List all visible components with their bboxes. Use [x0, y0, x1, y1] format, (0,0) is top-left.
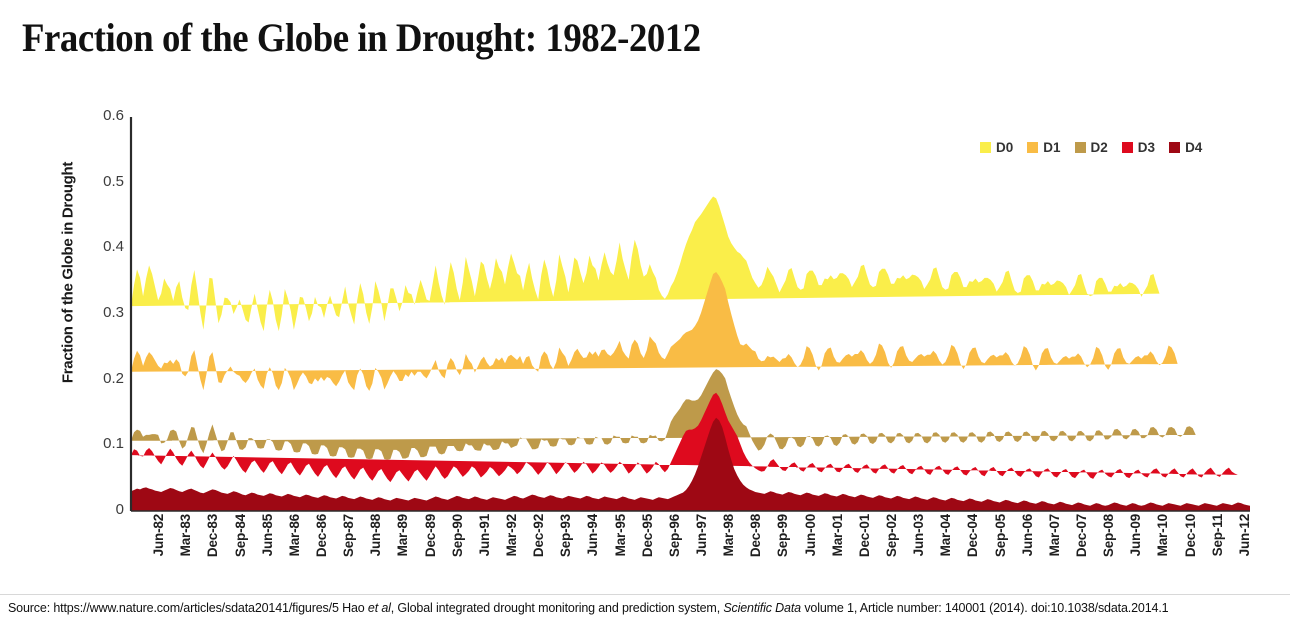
- x-axis-ticks: Jun-82Mar-83Dec-83Sep-84Jun-85Mar-86Dec-…: [0, 96, 1290, 596]
- x-tick-label: Sep-08: [1101, 514, 1116, 557]
- x-tick-label: Jun-09: [1128, 514, 1143, 556]
- x-tick-label: Sep-84: [233, 514, 248, 557]
- source-prefix: Source: https://www.nature.com/articles/…: [8, 601, 368, 615]
- legend-item-d4[interactable]: D4: [1169, 140, 1202, 155]
- x-tick-label: Sep-99: [775, 514, 790, 557]
- x-tick-label: Dec-86: [314, 514, 329, 557]
- legend-item-d0[interactable]: D0: [980, 140, 1013, 155]
- source-suffix: volume 1, Article number: 140001 (2014).…: [801, 601, 1168, 615]
- x-tick-label: Mar-01: [830, 514, 845, 556]
- legend-label: D4: [1185, 140, 1202, 155]
- legend-label: D1: [1043, 140, 1060, 155]
- x-tick-label: Sep-87: [341, 514, 356, 557]
- source-authors: et al: [368, 601, 391, 615]
- x-tick-label: Sep-02: [884, 514, 899, 557]
- x-tick-label: Dec-89: [423, 514, 438, 557]
- x-tick-label: Sep-96: [667, 514, 682, 557]
- x-tick-label: Jun-97: [694, 514, 709, 556]
- legend-swatch-icon: [980, 142, 991, 153]
- x-tick-label: Dec-10: [1183, 514, 1198, 557]
- x-tick-label: Jun-88: [368, 514, 383, 556]
- x-tick-label: Mar-98: [721, 514, 736, 556]
- x-tick-label: Mar-83: [178, 514, 193, 556]
- x-tick-label: Mar-89: [395, 514, 410, 556]
- x-tick-label: Dec-04: [965, 514, 980, 557]
- legend-swatch-icon: [1122, 142, 1133, 153]
- x-tick-label: Jun-82: [151, 514, 166, 556]
- legend-item-d3[interactable]: D3: [1122, 140, 1155, 155]
- legend-swatch-icon: [1027, 142, 1038, 153]
- x-tick-label: Mar-07: [1047, 514, 1062, 556]
- x-tick-label: Dec-95: [640, 514, 655, 557]
- x-tick-label: Mar-10: [1155, 514, 1170, 556]
- legend-swatch-icon: [1169, 142, 1180, 153]
- legend-label: D0: [996, 140, 1013, 155]
- legend-label: D3: [1138, 140, 1155, 155]
- x-tick-label: Jun-85: [260, 514, 275, 556]
- figure-page: Fraction of the Globe in Drought: 1982-2…: [0, 0, 1290, 630]
- x-tick-label: Dec-98: [748, 514, 763, 557]
- x-tick-label: Jun-03: [911, 514, 926, 556]
- x-tick-label: Sep-93: [558, 514, 573, 557]
- legend-item-d1[interactable]: D1: [1027, 140, 1060, 155]
- x-tick-label: Sep-90: [450, 514, 465, 557]
- x-tick-label: Jun-00: [803, 514, 818, 556]
- x-tick-label: Dec-83: [205, 514, 220, 557]
- source-mid: , Global integrated drought monitoring a…: [391, 601, 724, 615]
- x-tick-label: Sep-11: [1210, 514, 1225, 556]
- source-caption: Source: https://www.nature.com/articles/…: [8, 601, 1168, 615]
- x-tick-label: Sep-05: [993, 514, 1008, 557]
- x-tick-label: Dec-92: [531, 514, 546, 557]
- x-tick-label: Mar-04: [938, 514, 953, 556]
- x-tick-label: Jun-06: [1020, 514, 1035, 556]
- x-tick-label: Mar-92: [504, 514, 519, 556]
- x-tick-label: Jun-91: [477, 514, 492, 556]
- legend-item-d2[interactable]: D2: [1075, 140, 1108, 155]
- chart-figure: Fraction of the Globe in Drought 0.60.50…: [0, 96, 1290, 596]
- legend-swatch-icon: [1075, 142, 1086, 153]
- x-tick-label: Jun-12: [1237, 514, 1252, 556]
- page-title: Fraction of the Globe in Drought: 1982-2…: [22, 14, 701, 61]
- x-tick-label: Mar-86: [287, 514, 302, 556]
- chart-legend: D0D1D2D3D4: [980, 140, 1202, 155]
- x-tick-label: Dec-01: [857, 514, 872, 557]
- footer-divider: [0, 594, 1290, 595]
- legend-label: D2: [1091, 140, 1108, 155]
- x-tick-label: Dec-07: [1074, 514, 1089, 557]
- x-tick-label: Mar-95: [613, 514, 628, 556]
- source-journal: Scientific Data: [723, 601, 801, 615]
- x-tick-label: Jun-94: [585, 514, 600, 556]
